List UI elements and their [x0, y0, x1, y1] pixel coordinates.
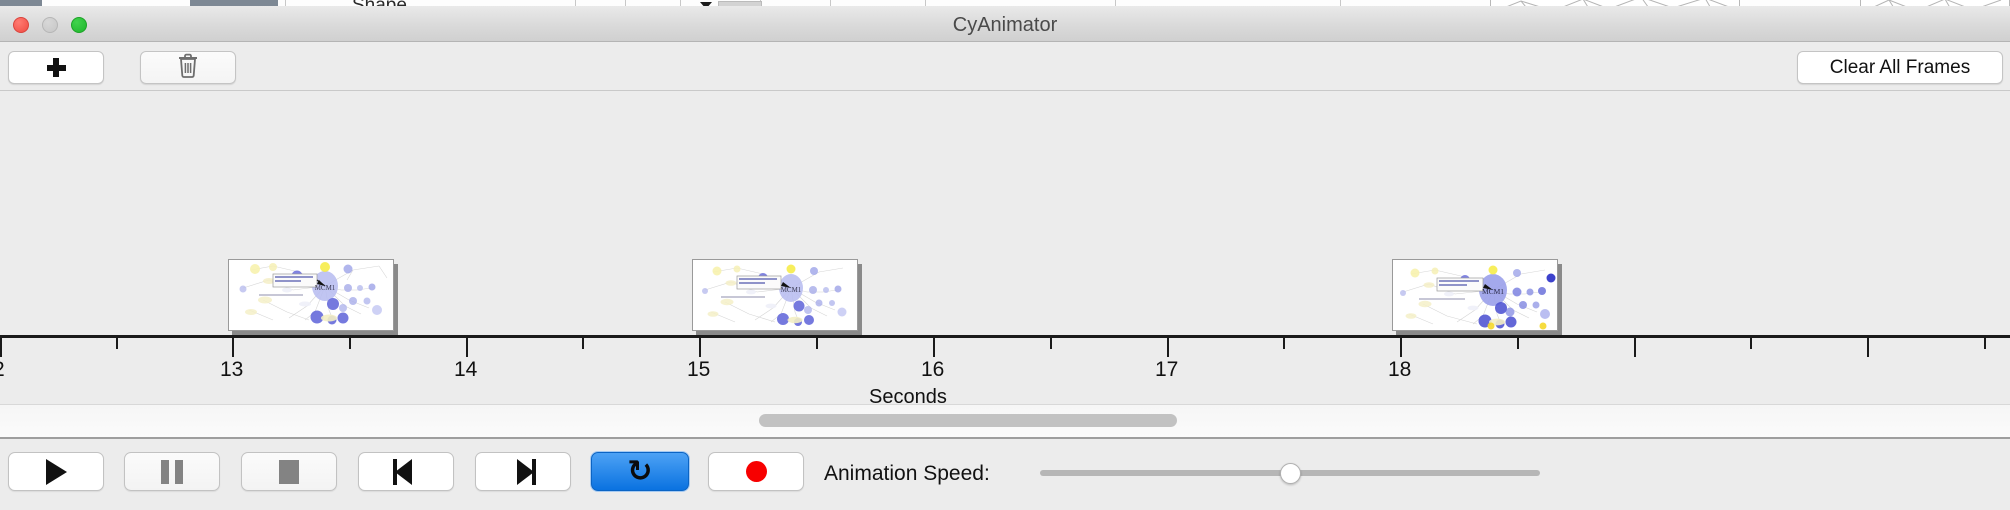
frame-thumbnail[interactable]: MCM1 [692, 259, 862, 335]
ruler-tick-major [1167, 338, 1169, 357]
window-title: CyAnimator [0, 14, 2010, 37]
frame-thumbnail[interactable]: MCM1 [228, 259, 398, 335]
record-icon [746, 461, 767, 482]
pause-button[interactable] [124, 452, 220, 491]
ruler-tick-label: 13 [220, 358, 243, 382]
ruler-axis-title: Seconds [869, 386, 947, 404]
plus-icon [47, 58, 66, 77]
add-frame-button[interactable] [8, 51, 104, 84]
ruler-tick-label: 2 [0, 358, 5, 382]
ruler-tick-major [0, 338, 2, 357]
slider-thumb[interactable] [1280, 463, 1301, 484]
record-button[interactable] [708, 452, 804, 491]
playback-control-bar: ↻ Animation Speed: [0, 437, 2010, 509]
animation-speed-slider[interactable] [1040, 463, 1540, 483]
skip-next-icon [510, 459, 536, 485]
stop-icon [279, 460, 299, 484]
ruler-tick-major [232, 338, 234, 357]
ruler-tick-major [466, 338, 468, 357]
ruler-tick-major [1634, 338, 1636, 357]
ruler-tick-minor [1750, 338, 1752, 349]
loop-button[interactable]: ↻ [591, 452, 689, 491]
play-icon [46, 459, 67, 485]
animation-speed-label: Animation Speed: [824, 462, 990, 486]
ruler-axis-line [0, 335, 2010, 338]
ruler-tick-label: 17 [1155, 358, 1178, 382]
clear-all-frames-button[interactable]: Clear All Frames [1797, 51, 2003, 84]
ruler-tick-major [933, 338, 935, 357]
horizontal-scrollbar-thumb[interactable] [759, 414, 1177, 427]
ruler-tick-minor [1050, 338, 1052, 349]
timeline-scroll-area[interactable] [0, 404, 2010, 437]
stop-button[interactable] [241, 452, 337, 491]
loop-icon: ↻ [627, 457, 652, 487]
ruler-tick-label: 16 [921, 358, 944, 382]
svg-text:MCM1: MCM1 [1482, 287, 1504, 296]
ruler-tick-label: 18 [1388, 358, 1411, 382]
next-frame-button[interactable] [475, 452, 571, 491]
ruler-tick-minor [816, 338, 818, 349]
svg-text:MCM1: MCM1 [315, 284, 336, 292]
pause-icon [161, 460, 183, 484]
svg-text:MCM1: MCM1 [781, 286, 802, 294]
ruler-tick-major [1400, 338, 1402, 357]
frame-thumbnail[interactable]: MCM1 [1392, 259, 1562, 335]
previous-frame-button[interactable] [358, 452, 454, 491]
ruler-tick-label: 14 [454, 358, 477, 382]
ruler-tick-minor [1283, 338, 1285, 349]
ruler-tick-major [699, 338, 701, 357]
skip-previous-icon [393, 459, 419, 485]
ruler-tick-minor [116, 338, 118, 349]
timeline-ruler[interactable]: 2 13 14 15 16 17 18 Seconds [0, 335, 2010, 404]
ruler-tick-major [1867, 338, 1869, 357]
ruler-tick-minor [582, 338, 584, 349]
ruler-tick-label: 15 [687, 358, 710, 382]
ruler-tick-minor [349, 338, 351, 349]
timeline-panel[interactable]: MCM1 [0, 91, 2010, 404]
trash-icon [177, 53, 199, 83]
play-button[interactable] [8, 452, 104, 491]
frame-network-preview: MCM1 [692, 259, 858, 331]
delete-frame-button[interactable] [140, 51, 236, 84]
ruler-tick-minor [1517, 338, 1519, 349]
ruler-tick-minor [1984, 338, 1986, 349]
frame-toolbar: Clear All Frames [0, 42, 2010, 91]
frame-network-preview: MCM1 [1392, 259, 1558, 331]
cyanimator-window: CyAnimator Clear All Frames [0, 6, 2010, 510]
window-titlebar: CyAnimator [0, 6, 2010, 42]
frame-network-preview: MCM1 [228, 259, 394, 331]
